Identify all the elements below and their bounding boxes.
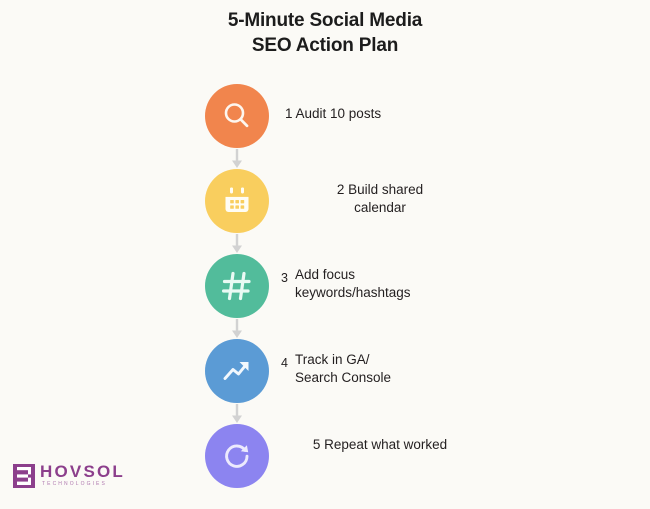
infographic-canvas: 5-Minute Social Media SEO Action Plan [0, 0, 650, 500]
step-3-label: 3 Add focus keywords/hashtags [281, 266, 481, 302]
steps-flow: 1 Audit 10 posts [0, 84, 650, 509]
title-line-2: SEO Action Plan [0, 33, 650, 58]
step-1-circle[interactable] [205, 84, 269, 148]
step-4-label: 4 Track in GA/ Search Console [281, 351, 481, 387]
refresh-icon [220, 439, 254, 473]
flow-step-2: 2 Build shared calendar [0, 169, 650, 254]
flow-step-1: 1 Audit 10 posts [0, 84, 650, 169]
connector-arrow-3-4 [205, 318, 269, 340]
flow-step-3: 3 Add focus keywords/hashtags [0, 254, 650, 339]
step-2-label: 2 Build shared calendar [285, 181, 475, 217]
search-icon [220, 99, 254, 133]
hovsol-monogram-icon [13, 464, 35, 488]
trending-up-icon [220, 354, 254, 388]
step-3-number: 3 [281, 266, 288, 287]
logo-wordmark: HOVSOL TECHNOLOGIES [40, 463, 125, 488]
step-5-circle[interactable] [205, 424, 269, 488]
step-4-text: Track in GA/ Search Console [295, 351, 391, 387]
page-title: 5-Minute Social Media SEO Action Plan [0, 8, 650, 58]
step-4-circle[interactable] [205, 339, 269, 403]
connector-arrow-1-2 [205, 148, 269, 170]
logo-tagline: TECHNOLOGIES [40, 480, 125, 488]
connector-arrow-4-5 [205, 403, 269, 425]
hashtag-icon [220, 269, 254, 303]
step-4-number: 4 [281, 351, 288, 372]
logo-name: HOVSOL [40, 463, 125, 480]
step-1-label: 1 Audit 10 posts [285, 105, 475, 123]
step-3-circle[interactable] [205, 254, 269, 318]
connector-arrow-2-3 [205, 233, 269, 255]
step-3-text: Add focus keywords/hashtags [295, 266, 411, 302]
title-line-1: 5-Minute Social Media [0, 8, 650, 33]
step-2-circle[interactable] [205, 169, 269, 233]
step-5-label: 5 Repeat what worked [285, 436, 475, 454]
flow-step-4: 4 Track in GA/ Search Console [0, 339, 650, 424]
brand-logo: HOVSOL TECHNOLOGIES [13, 463, 125, 488]
calendar-icon [221, 185, 253, 217]
